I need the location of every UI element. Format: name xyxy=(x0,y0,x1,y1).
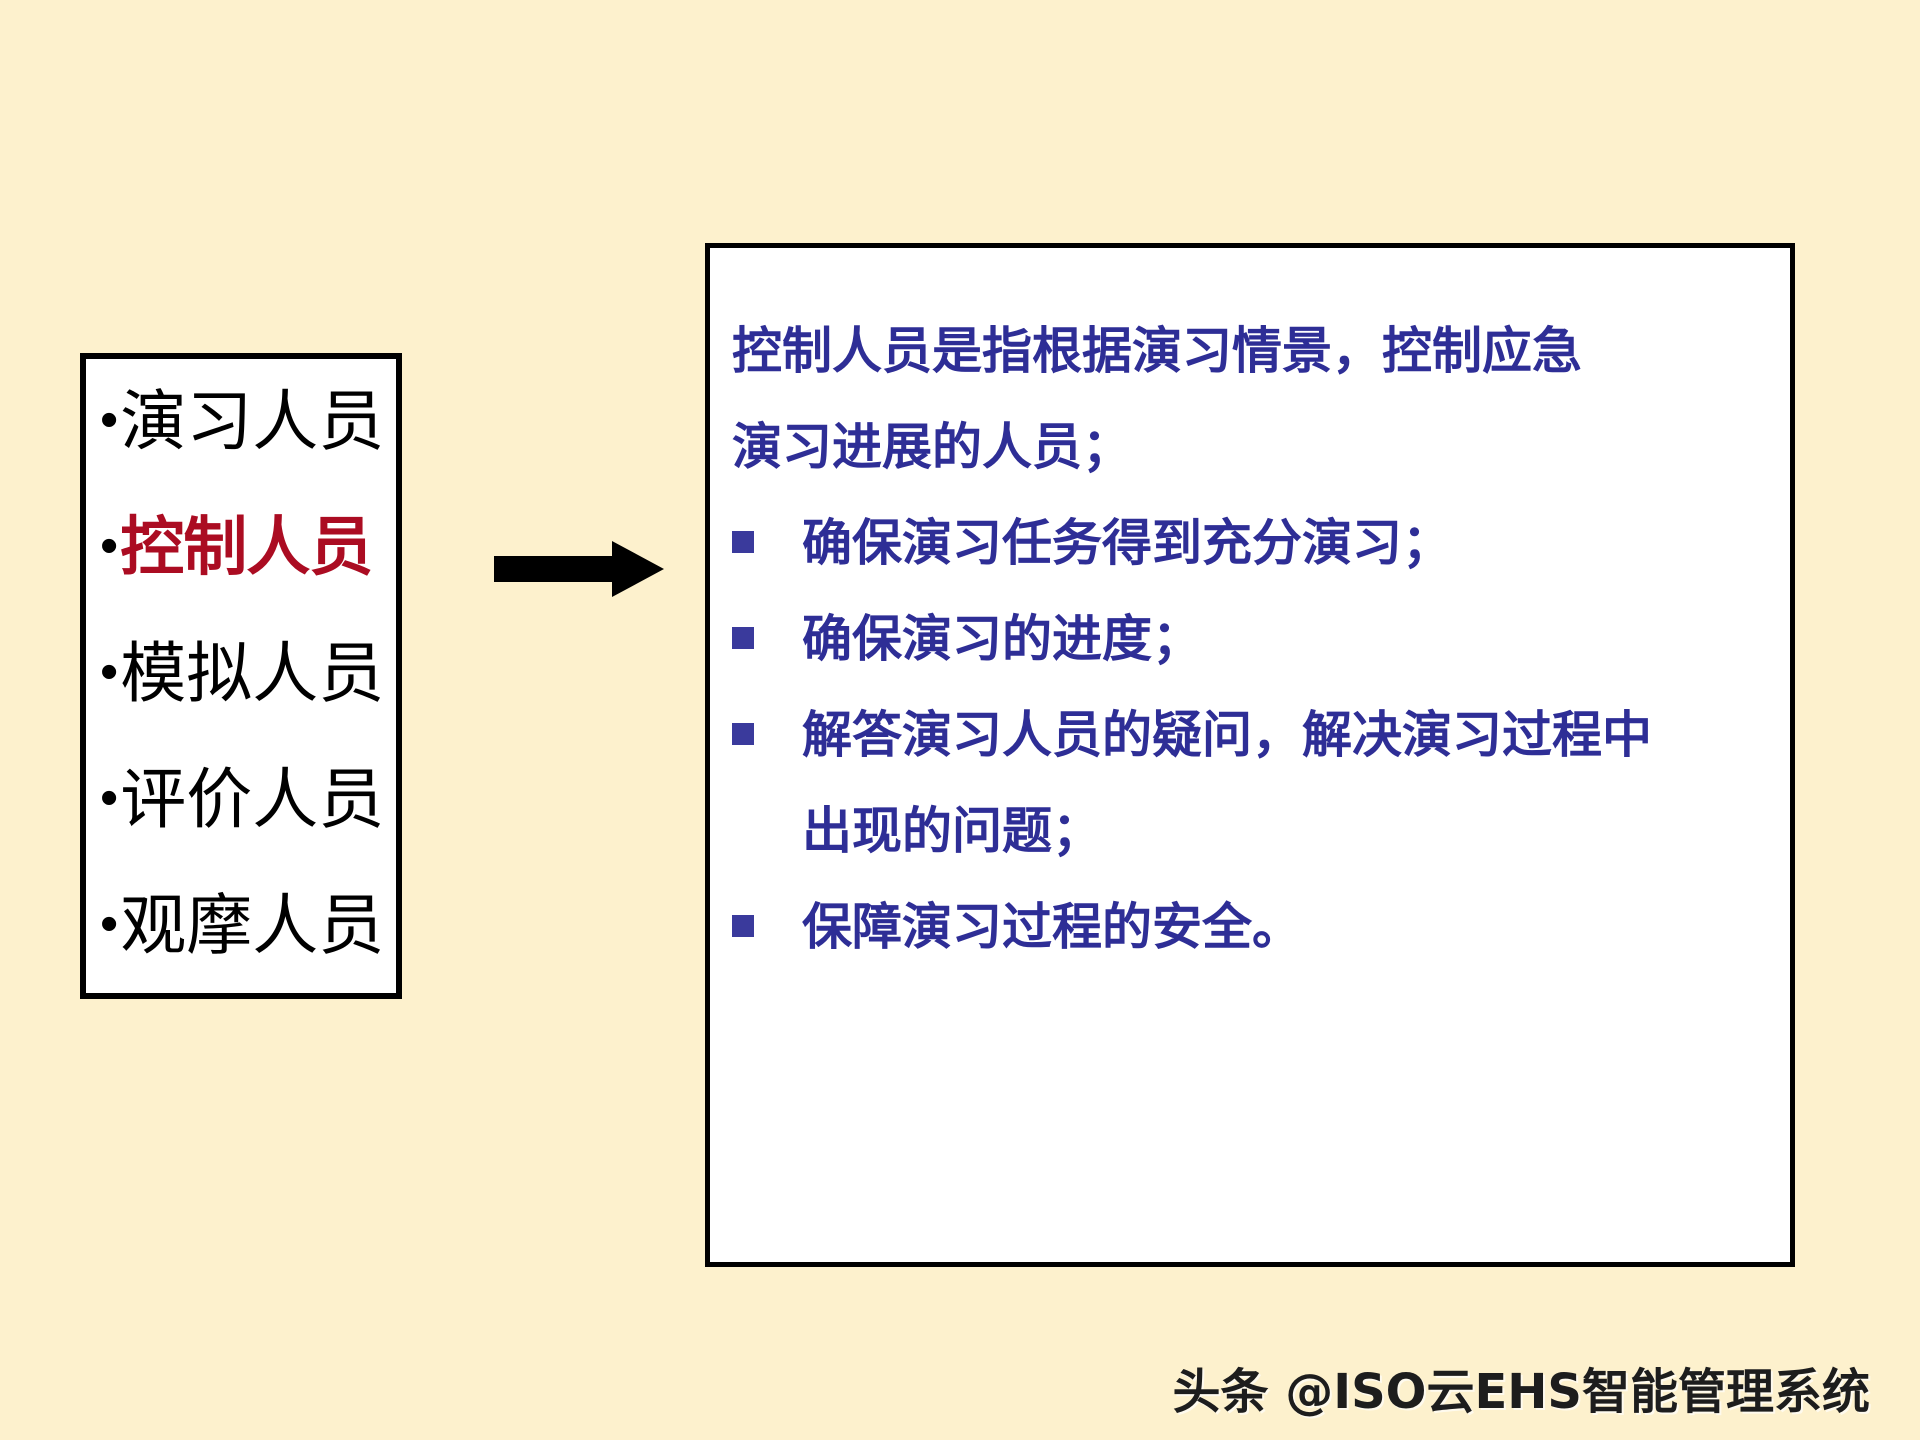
detail-bullet-text-1: 确保演习的进度； xyxy=(802,591,1202,687)
indent-spacer xyxy=(732,783,802,879)
square-bullet-icon xyxy=(732,531,754,553)
slide-canvas: • 演习人员 • 控制人员 • 模拟人员 • 评价人员 • 观摩人员 控制人员是… xyxy=(0,0,1920,1440)
category-label-4: 观摩人员 xyxy=(120,893,384,959)
category-label-1-highlighted: 控制人员 xyxy=(120,516,372,580)
category-label-2: 模拟人员 xyxy=(120,641,384,707)
detail-bullet-text-2-cont: 出现的问题； xyxy=(802,783,1102,879)
intro-line-2: 演习进展的人员； xyxy=(732,399,1790,495)
detail-bullet-text-0: 确保演习任务得到充分演习； xyxy=(802,495,1452,591)
intro-line-1: 控制人员是指根据演习情景，控制应急 xyxy=(732,303,1790,399)
personnel-category-box: • 演习人员 • 控制人员 • 模拟人员 • 评价人员 • 观摩人员 xyxy=(80,353,402,999)
list-item[interactable]: • 模拟人员 xyxy=(86,611,396,737)
right-arrow-icon xyxy=(494,540,664,598)
list-item[interactable]: • 评价人员 xyxy=(86,737,396,863)
list-item[interactable]: • 观摩人员 xyxy=(86,863,396,989)
detail-bullet-1: 确保演习的进度； xyxy=(732,591,1790,687)
category-label-0: 演习人员 xyxy=(120,389,384,455)
square-bullet-icon xyxy=(732,627,754,649)
category-label-3: 评价人员 xyxy=(120,767,384,833)
detail-panel: 控制人员是指根据演习情景，控制应急 演习进展的人员； 确保演习任务得到充分演习；… xyxy=(705,243,1795,1267)
watermark-text: 头条 @ISO云EHS智能管理系统 xyxy=(1173,1352,1870,1422)
square-bullet-icon xyxy=(732,723,754,745)
detail-bullet-3: 保障演习过程的安全。 xyxy=(732,879,1790,975)
list-item[interactable]: • 演习人员 xyxy=(86,359,396,485)
detail-bullet-text-2: 解答演习人员的疑问，解决演习过程中 xyxy=(802,687,1652,783)
detail-bullet-text-3: 保障演习过程的安全。 xyxy=(802,879,1302,975)
square-bullet-icon xyxy=(732,915,754,937)
detail-bullet-0: 确保演习任务得到充分演习； xyxy=(732,495,1790,591)
detail-bullet-2-continuation: 出现的问题； xyxy=(732,783,1790,879)
detail-bullet-2: 解答演习人员的疑问，解决演习过程中 xyxy=(732,687,1790,783)
list-item[interactable]: • 控制人员 xyxy=(86,485,396,611)
